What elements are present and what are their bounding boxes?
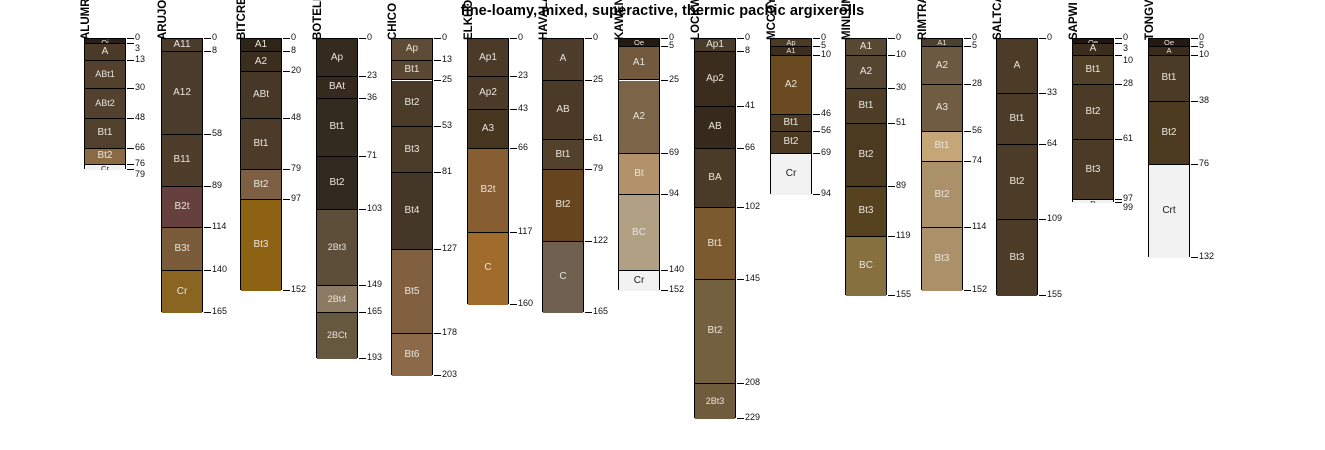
- depth-tick: [1115, 139, 1122, 140]
- horizon-label: A1: [771, 47, 811, 55]
- profile-column: Ap1Ap2ABBABt1Bt22Bt3: [694, 38, 736, 418]
- depth-tick: [359, 98, 366, 99]
- depth-tick: [510, 304, 517, 305]
- soil-horizon: A: [1073, 44, 1113, 56]
- depth-tick: [1039, 144, 1046, 145]
- depth-tick: [359, 209, 366, 210]
- soil-horizon: Bt1: [922, 132, 962, 162]
- depth-tick: [661, 38, 668, 39]
- depth-label: 66: [518, 143, 528, 152]
- horizon-label: Bt2: [1073, 107, 1113, 117]
- soil-horizon: Bt2: [392, 81, 432, 127]
- soil-horizon: ABt1: [85, 61, 125, 89]
- horizon-label: Cr: [85, 165, 125, 170]
- depth-label: 48: [135, 113, 145, 122]
- horizon-label: A2: [922, 61, 962, 71]
- depth-tick: [204, 270, 211, 271]
- soil-horizon: Cr: [771, 154, 811, 196]
- horizon-label: Bt2: [241, 180, 281, 190]
- depth-label: 69: [821, 148, 831, 157]
- depth-tick: [510, 109, 517, 110]
- soil-horizon: BAt: [317, 77, 357, 99]
- depth-label: 0: [212, 33, 217, 42]
- depth-label: 3: [135, 44, 140, 53]
- depth-label: 0: [291, 33, 296, 42]
- depth-label: 0: [1123, 33, 1128, 42]
- horizon-label: Bt1: [922, 141, 962, 151]
- depth-tick: [359, 312, 366, 313]
- profile-column: ApBt1Bt2Bt3Bt4Bt5Bt6: [391, 38, 433, 375]
- horizon-label: Ap2: [468, 88, 508, 98]
- soil-horizon: R: [1073, 200, 1113, 203]
- soil-horizon: Bt3: [846, 187, 886, 237]
- depth-label: 38: [1199, 96, 1209, 105]
- depth-tick: [434, 375, 441, 376]
- soil-horizon: B3t: [162, 228, 202, 271]
- depth-label: 0: [367, 33, 372, 42]
- horizon-label: Bt5: [392, 287, 432, 297]
- depth-tick: [283, 169, 290, 170]
- soil-horizon: Bt1: [695, 208, 735, 279]
- depth-tick: [1115, 84, 1122, 85]
- profile-column: OiAABt1ABt2Bt1Bt2Cr: [84, 38, 126, 169]
- depth-label: 64: [1047, 139, 1057, 148]
- horizon-label: BC: [846, 261, 886, 271]
- horizon-label: Bt2: [392, 98, 432, 108]
- depth-label: 119: [896, 231, 910, 240]
- depth-label: 53: [442, 121, 452, 130]
- depth-tick: [964, 290, 971, 291]
- depth-label: 122: [593, 236, 608, 245]
- soil-horizon: Bt1: [1073, 56, 1113, 86]
- depth-tick: [359, 358, 366, 359]
- soil-horizon: Bt6: [392, 334, 432, 376]
- profile-column: Ap1Ap2A3B2tC: [467, 38, 509, 304]
- depth-tick: [434, 333, 441, 334]
- depth-tick: [204, 134, 211, 135]
- depth-tick: [661, 80, 668, 81]
- depth-label: 66: [745, 143, 755, 152]
- soil-horizon: A2: [241, 52, 281, 72]
- depth-label: 165: [212, 307, 227, 316]
- depth-tick: [1191, 38, 1198, 39]
- depth-label: 28: [1123, 79, 1133, 88]
- depth-tick: [204, 38, 211, 39]
- depth-tick: [1191, 46, 1198, 47]
- depth-label: 43: [518, 104, 528, 113]
- horizon-label: Bt3: [997, 253, 1037, 263]
- depth-tick: [434, 80, 441, 81]
- depth-label: 99: [1123, 203, 1133, 212]
- horizon-label: Bt2: [771, 137, 811, 147]
- depth-label: 36: [367, 93, 377, 102]
- soil-horizon: Bt1: [543, 140, 583, 170]
- horizon-label: A1: [846, 42, 886, 52]
- soil-horizon: Crt: [1149, 165, 1189, 258]
- depth-tick: [813, 194, 820, 195]
- horizon-label: Cr: [162, 287, 202, 297]
- soil-horizon: A: [997, 39, 1037, 94]
- depth-tick: [204, 186, 211, 187]
- soil-horizon: A11: [162, 39, 202, 52]
- soil-horizon: A2: [619, 81, 659, 154]
- depth-label: 3: [1123, 44, 1128, 53]
- depth-tick: [813, 114, 820, 115]
- depth-tick: [1191, 101, 1198, 102]
- soil-horizon: Bt2: [1149, 102, 1189, 165]
- profile-name: ELKHORN: [463, 0, 475, 40]
- depth-tick: [204, 227, 211, 228]
- horizon-label: A: [1073, 44, 1113, 54]
- soil-horizon: A1: [846, 39, 886, 56]
- soil-horizon: Bt3: [241, 200, 281, 291]
- depth-tick: [359, 76, 366, 77]
- depth-label: 41: [745, 101, 755, 110]
- depth-tick: [661, 290, 668, 291]
- depth-label: 145: [745, 274, 760, 283]
- depth-label: 152: [972, 285, 987, 294]
- depth-label: 33: [1047, 88, 1057, 97]
- depth-label: 13: [135, 55, 145, 64]
- depth-label: 140: [212, 265, 227, 274]
- depth-label: 103: [367, 204, 382, 213]
- depth-tick: [964, 46, 971, 47]
- depth-label: 51: [896, 118, 906, 127]
- horizon-label: A12: [162, 88, 202, 98]
- depth-tick: [1039, 295, 1046, 296]
- horizon-label: Ap: [317, 53, 357, 63]
- depth-label: 0: [1047, 33, 1052, 42]
- soil-horizon: Bt3: [922, 228, 962, 291]
- soil-horizon: A: [85, 44, 125, 61]
- soil-horizon: A2: [846, 56, 886, 89]
- depth-tick: [1039, 93, 1046, 94]
- depth-tick: [585, 241, 592, 242]
- soil-horizon: Ap2: [468, 77, 508, 110]
- depth-tick: [359, 285, 366, 286]
- depth-label: 5: [972, 41, 977, 50]
- depth-label: 79: [135, 170, 145, 179]
- soil-horizon: Cr: [85, 165, 125, 170]
- soil-horizon: Bt2: [1073, 85, 1113, 140]
- horizon-label: Bt4: [392, 206, 432, 216]
- page-title: fine-loamy, mixed, superactive, thermic …: [0, 3, 1325, 19]
- profile-name: CHICO: [387, 3, 399, 40]
- horizon-label: Bt: [619, 169, 659, 179]
- horizon-label: B11: [162, 155, 202, 165]
- soil-horizon: Bt1: [1149, 56, 1189, 102]
- depth-label: 0: [896, 33, 901, 42]
- horizon-label: A1: [241, 40, 281, 50]
- soil-horizon: Bt2: [695, 280, 735, 385]
- soil-horizon: Bt2: [317, 157, 357, 210]
- depth-tick: [283, 199, 290, 200]
- horizon-label: A2: [771, 80, 811, 90]
- horizon-label: Bt1: [997, 114, 1037, 124]
- soil-horizon: 2Bt3: [695, 384, 735, 419]
- soil-horizon: Bt3: [997, 220, 1037, 296]
- depth-tick: [1191, 257, 1198, 258]
- soil-horizon: BA: [695, 149, 735, 209]
- horizon-label: 2BCt: [317, 331, 357, 340]
- profile-name: BOTELLA: [312, 0, 324, 40]
- depth-label: 114: [212, 222, 226, 231]
- horizon-label: A2: [619, 112, 659, 122]
- depth-tick: [888, 55, 895, 56]
- soil-horizon: Bt1: [997, 94, 1037, 145]
- depth-label: 165: [367, 307, 382, 316]
- horizon-label: Bt1: [392, 65, 432, 75]
- depth-tick: [964, 227, 971, 228]
- horizon-label: Bt3: [1073, 165, 1113, 175]
- soil-horizon: Bt: [619, 154, 659, 196]
- profile-column: A1A2ABtBt1Bt2Bt3: [240, 38, 282, 290]
- depth-label: 69: [669, 148, 679, 157]
- depth-label: 61: [1123, 134, 1133, 143]
- depth-tick: [204, 312, 211, 313]
- depth-label: 79: [291, 164, 301, 173]
- depth-tick: [434, 60, 441, 61]
- depth-label: 8: [212, 46, 217, 55]
- horizon-label: B2t: [468, 185, 508, 195]
- soil-horizon: Ap: [771, 39, 811, 47]
- depth-tick: [888, 38, 895, 39]
- soil-profile-plot: fine-loamy, mixed, superactive, thermic …: [0, 0, 1325, 450]
- depth-label: 208: [745, 378, 760, 387]
- depth-label: 152: [669, 285, 684, 294]
- depth-label: 76: [135, 159, 145, 168]
- depth-tick: [888, 295, 895, 296]
- depth-label: 132: [1199, 252, 1214, 261]
- horizon-label: A: [543, 54, 583, 64]
- depth-tick: [359, 156, 366, 157]
- depth-tick: [964, 38, 971, 39]
- soil-horizon: A: [1149, 47, 1189, 55]
- soil-horizon: A3: [468, 110, 508, 148]
- depth-tick: [510, 76, 517, 77]
- horizon-label: Bt1: [695, 239, 735, 249]
- depth-label: 117: [518, 227, 532, 236]
- depth-tick: [888, 123, 895, 124]
- depth-tick: [1115, 55, 1122, 56]
- soil-horizon: BC: [619, 195, 659, 271]
- depth-tick: [661, 270, 668, 271]
- soil-horizon: Oe: [619, 39, 659, 47]
- horizon-label: 2Bt4: [317, 295, 357, 304]
- depth-label: 89: [212, 181, 222, 190]
- horizon-label: Bt3: [846, 206, 886, 216]
- depth-tick: [434, 126, 441, 127]
- horizon-label: A3: [468, 124, 508, 134]
- horizon-label: Oe: [619, 39, 659, 47]
- profile-name: ALUMROCK: [80, 0, 92, 40]
- horizon-label: Bt1: [85, 128, 125, 138]
- depth-tick: [585, 312, 592, 313]
- horizon-label: Bt2: [695, 326, 735, 336]
- depth-label: 102: [745, 202, 760, 211]
- depth-label: 114: [972, 222, 986, 231]
- depth-tick: [813, 153, 820, 154]
- depth-tick: [434, 38, 441, 39]
- soil-horizon: A2: [922, 47, 962, 85]
- horizon-label: 2Bt3: [695, 397, 735, 406]
- depth-tick: [127, 164, 134, 165]
- depth-tick: [127, 60, 134, 61]
- depth-tick: [888, 88, 895, 89]
- depth-tick: [737, 418, 744, 419]
- depth-label: 25: [669, 75, 679, 84]
- profile-name: SAPWI: [1068, 2, 1080, 40]
- soil-horizon: Bt3: [1073, 140, 1113, 200]
- soil-horizon: ABt: [241, 72, 281, 118]
- depth-tick: [661, 46, 668, 47]
- profile-column: OeABt1Bt2Bt3R: [1072, 38, 1114, 202]
- profile-column: A1A2A3Bt1Bt2Bt3: [921, 38, 963, 290]
- soil-horizon: Ap2: [695, 52, 735, 107]
- depth-label: 8: [745, 46, 750, 55]
- depth-label: 25: [593, 75, 603, 84]
- depth-label: 48: [291, 113, 301, 122]
- depth-tick: [510, 232, 517, 233]
- horizon-label: A: [85, 47, 125, 57]
- horizon-label: Ap1: [468, 53, 508, 63]
- depth-label: 8: [291, 46, 296, 55]
- depth-label: 94: [821, 189, 831, 198]
- depth-tick: [1115, 202, 1122, 203]
- soil-horizon: A3: [922, 85, 962, 131]
- soil-horizon: A1: [619, 47, 659, 80]
- depth-label: 56: [821, 126, 831, 135]
- horizon-label: Bt2: [997, 177, 1037, 187]
- horizon-label: Bt2: [1149, 128, 1189, 138]
- depth-label: 23: [367, 71, 377, 80]
- depth-tick: [127, 43, 134, 44]
- soil-horizon: B11: [162, 135, 202, 186]
- soil-horizon: Bt1: [85, 119, 125, 149]
- horizon-label: A2: [846, 67, 886, 77]
- soil-horizon: Bt2: [241, 170, 281, 200]
- soil-horizon: C: [468, 233, 508, 304]
- soil-horizon: B2t: [468, 149, 508, 234]
- soil-horizon: 2Bt4: [317, 286, 357, 313]
- depth-tick: [510, 148, 517, 149]
- horizon-label: Bt1: [771, 118, 811, 128]
- soil-horizon: Cr: [162, 271, 202, 313]
- depth-tick: [127, 88, 134, 89]
- depth-label: 0: [442, 33, 447, 42]
- horizon-label: BC: [619, 228, 659, 238]
- horizon-label: Bt3: [392, 145, 432, 155]
- depth-tick: [283, 38, 290, 39]
- depth-tick: [737, 207, 744, 208]
- soil-horizon: Bt1: [317, 99, 357, 157]
- depth-tick: [127, 38, 134, 39]
- depth-tick: [964, 84, 971, 85]
- depth-tick: [283, 290, 290, 291]
- soil-horizon: B2t: [162, 187, 202, 229]
- depth-tick: [127, 169, 134, 170]
- depth-tick: [1115, 38, 1122, 39]
- depth-tick: [434, 172, 441, 173]
- depth-label: 56: [972, 126, 982, 135]
- depth-label: 79: [593, 164, 603, 173]
- depth-tick: [737, 106, 744, 107]
- profile-column: A1A2Bt1Bt2Bt3BC: [845, 38, 887, 295]
- depth-label: 0: [745, 33, 750, 42]
- depth-label: 13: [442, 55, 452, 64]
- profile-column: AABBt1Bt2C: [542, 38, 584, 312]
- soil-horizon: A1: [241, 39, 281, 52]
- soil-horizon: Ap1: [468, 39, 508, 77]
- depth-label: 193: [367, 353, 382, 362]
- depth-label: 25: [442, 75, 452, 84]
- depth-label: 61: [593, 134, 603, 143]
- horizon-label: Cr: [771, 169, 811, 179]
- horizon-label: Bt2: [317, 178, 357, 188]
- depth-label: 97: [291, 194, 301, 203]
- profile-name: MCCOY: [766, 0, 778, 40]
- depth-tick: [1191, 164, 1198, 165]
- soil-horizon: Bt1: [846, 89, 886, 124]
- soil-horizon: Bt2: [771, 132, 811, 154]
- depth-label: 203: [442, 370, 457, 379]
- depth-label: 71: [367, 151, 377, 160]
- depth-label: 165: [593, 307, 608, 316]
- depth-label: 0: [518, 33, 523, 42]
- profile-name: SALTCANYON: [992, 0, 1004, 40]
- horizon-label: A: [997, 61, 1037, 71]
- depth-tick: [888, 236, 895, 237]
- depth-tick: [813, 46, 820, 47]
- depth-tick: [888, 186, 895, 187]
- depth-tick: [737, 279, 744, 280]
- soil-horizon: Bt2: [922, 162, 962, 228]
- horizon-label: Crt: [1149, 206, 1189, 216]
- horizon-label: A2: [241, 57, 281, 67]
- depth-tick: [510, 38, 517, 39]
- soil-horizon: AB: [695, 107, 735, 149]
- horizon-label: Bt2: [922, 190, 962, 200]
- depth-tick: [813, 38, 820, 39]
- depth-label: 30: [135, 83, 145, 92]
- soil-horizon: Bt3: [392, 127, 432, 173]
- depth-label: 10: [1123, 56, 1133, 65]
- depth-label: 74: [972, 156, 982, 165]
- profile-name: LOCKWOOD: [690, 0, 702, 40]
- depth-tick: [127, 118, 134, 119]
- depth-label: 160: [518, 299, 533, 308]
- depth-tick: [661, 153, 668, 154]
- horizon-label: BA: [695, 173, 735, 183]
- horizon-label: AB: [695, 122, 735, 132]
- horizon-label: Bt1: [241, 139, 281, 149]
- soil-horizon: Bt2: [997, 145, 1037, 220]
- depth-label: 140: [669, 265, 684, 274]
- horizon-label: Bt1: [543, 150, 583, 160]
- soil-horizon: Bt5: [392, 250, 432, 335]
- depth-tick: [127, 148, 134, 149]
- soil-horizon: Bt2: [85, 149, 125, 166]
- profile-name: MINLUM: [841, 0, 853, 40]
- depth-label: 76: [1199, 159, 1209, 168]
- depth-tick: [585, 80, 592, 81]
- profile-name: BITCREEK: [236, 0, 248, 40]
- soil-horizon: Ap: [392, 39, 432, 61]
- soil-horizon: Oe: [1149, 39, 1189, 47]
- horizon-label: Bt1: [846, 101, 886, 111]
- depth-label: 152: [291, 285, 306, 294]
- depth-tick: [737, 148, 744, 149]
